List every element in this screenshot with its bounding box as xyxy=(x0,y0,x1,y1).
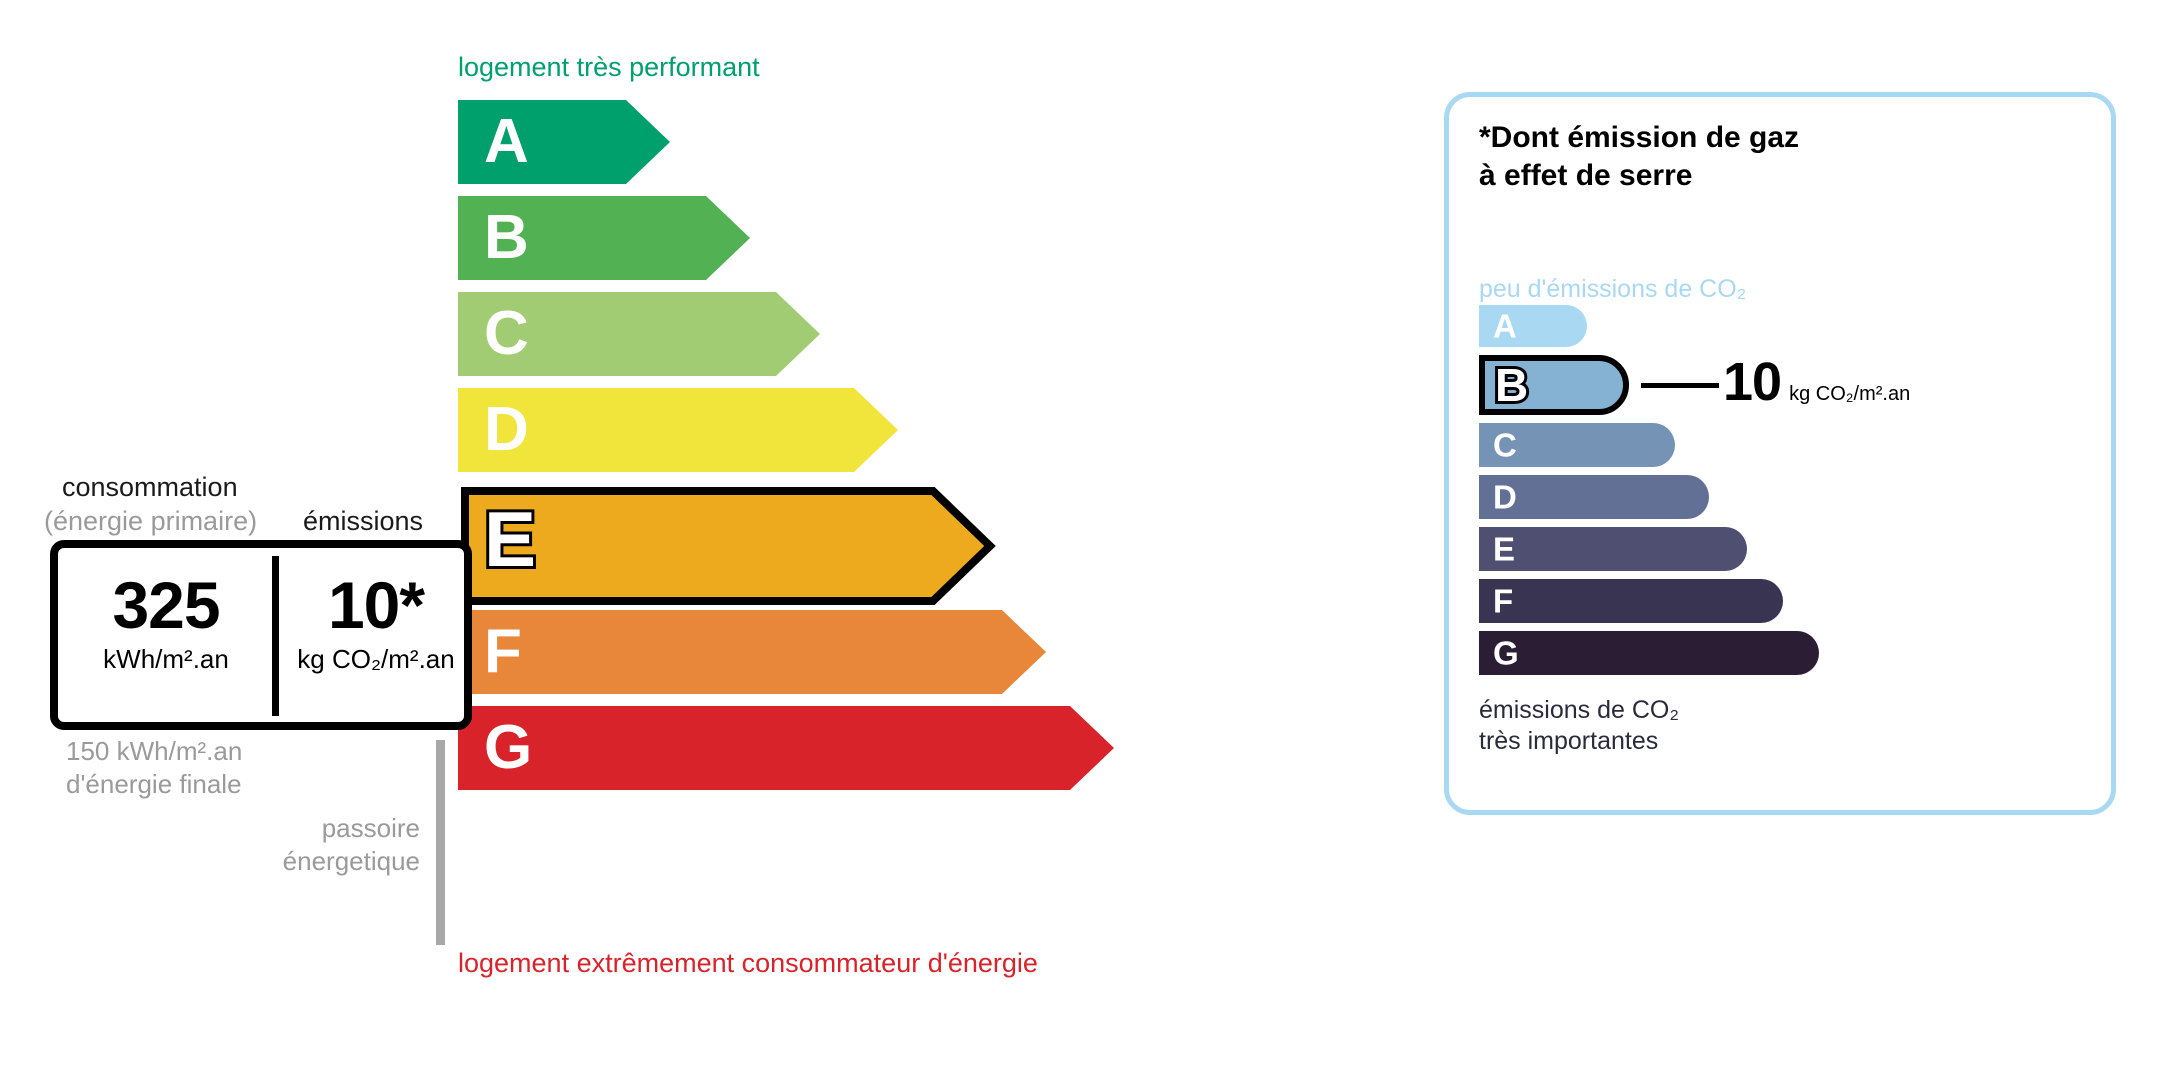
primary-energy-label: (énergie primaire) xyxy=(44,506,257,537)
co2-class-letter: B xyxy=(1495,362,1528,408)
co2-class-scale: ABCDEFG10kg CO₂/m².an xyxy=(1479,305,2079,685)
final-energy-line1: 150 kWh/m².an xyxy=(66,736,242,766)
energy-class-letter: C xyxy=(484,303,529,365)
energy-arrow-shape: D xyxy=(458,388,898,472)
co2-class-d: D xyxy=(1479,475,1709,519)
co2-bar-shape: G xyxy=(1479,631,1819,675)
co2-bar-shape: E xyxy=(1479,527,1747,571)
co2-bottom-line2: très importantes xyxy=(1479,727,1658,755)
co2-class-letter: D xyxy=(1493,481,1517,514)
co2-class-e: E xyxy=(1479,527,1747,571)
co2-emission-panel: *Dont émission de gaz à effet de serre p… xyxy=(1444,92,2116,815)
energy-arrow-shape: E xyxy=(458,484,997,594)
energy-class-letter: D xyxy=(484,399,529,461)
co2-title-line2: à effet de serre xyxy=(1479,159,1692,192)
co2-panel-title: *Dont émission de gaz à effet de serre xyxy=(1479,119,1799,194)
energy-top-caption: logement très performant xyxy=(458,52,760,83)
energy-arrow-shape: F xyxy=(458,610,1046,694)
co2-class-a: A xyxy=(1479,305,1587,347)
energy-class-scale: ABCDEFG xyxy=(458,100,1258,940)
energy-class-c: C xyxy=(458,292,820,376)
energy-bottom-caption: logement extrêmement consommateur d'éner… xyxy=(458,948,1038,979)
energy-arrow-shape: C xyxy=(458,292,820,376)
co2-class-f: F xyxy=(1479,579,1783,623)
passoire-label: passoire énergetique xyxy=(180,812,420,877)
energy-class-letter: E xyxy=(484,500,536,578)
co2-class-letter: F xyxy=(1493,585,1513,618)
energy-class-letter: B xyxy=(484,207,529,269)
co2-bar-shape: C xyxy=(1479,423,1675,467)
co2-class-letter: C xyxy=(1493,429,1517,462)
consumption-label: consommation xyxy=(62,472,238,503)
energy-class-letter: F xyxy=(484,621,522,683)
co2-class-g: G xyxy=(1479,631,1819,675)
consumption-value-cell: 325 kWh/m².an xyxy=(66,572,266,675)
co2-class-letter: A xyxy=(1493,310,1517,343)
energy-class-b: B xyxy=(458,196,750,280)
emission-value-cell: 10* kg CO₂/m².an xyxy=(286,572,466,675)
co2-bar-shape: F xyxy=(1479,579,1783,623)
co2-bar-shape: B xyxy=(1479,355,1629,415)
energy-class-letter: A xyxy=(484,111,529,173)
co2-value-connector-line xyxy=(1641,383,1719,388)
co2-value: 10 xyxy=(1723,352,1781,412)
emission-unit: kg CO₂/m².an xyxy=(286,644,466,675)
passoire-line2: énergetique xyxy=(283,846,420,876)
energy-arrow-shape: B xyxy=(458,196,750,280)
energy-class-letter: G xyxy=(484,717,532,779)
energy-class-a: A xyxy=(458,100,670,184)
final-energy-line2: d'énergie finale xyxy=(66,769,242,799)
energy-class-f: F xyxy=(458,610,1046,694)
passoire-line1: passoire xyxy=(322,813,420,843)
energy-class-d: D xyxy=(458,388,898,472)
consumption-unit: kWh/m².an xyxy=(66,644,266,675)
co2-title-line1: *Dont émission de gaz xyxy=(1479,121,1799,154)
co2-class-letter: G xyxy=(1493,637,1519,670)
energy-arrow-shape: G xyxy=(458,706,1114,790)
co2-class-c: C xyxy=(1479,423,1675,467)
co2-bar-shape: A xyxy=(1479,305,1587,347)
co2-value-group: 10kg CO₂/m².an xyxy=(1723,351,1910,413)
co2-class-letter: E xyxy=(1493,533,1515,566)
co2-top-caption: peu d'émissions de CO₂ xyxy=(1479,275,1746,304)
final-energy-note: 150 kWh/m².an d'énergie finale xyxy=(66,735,242,800)
co2-bar-shape: D xyxy=(1479,475,1709,519)
emissions-label: émissions xyxy=(303,506,423,537)
values-divider xyxy=(272,556,279,716)
passoire-energetique-marker xyxy=(436,740,445,945)
energy-performance-diagram: logement très performant ABCDEFG consomm… xyxy=(0,0,1400,1079)
co2-bottom-line1: émissions de CO₂ xyxy=(1479,696,1679,724)
energy-arrow-shape: A xyxy=(458,100,670,184)
energy-class-g: G xyxy=(458,706,1114,790)
energy-class-e: E xyxy=(458,484,997,594)
co2-bottom-caption: émissions de CO₂ très importantes xyxy=(1479,695,1679,758)
consumption-value: 325 xyxy=(66,572,266,638)
co2-value-unit: kg CO₂/m².an xyxy=(1789,383,1910,405)
emission-value: 10* xyxy=(286,572,466,638)
co2-class-b: B xyxy=(1479,355,1629,415)
